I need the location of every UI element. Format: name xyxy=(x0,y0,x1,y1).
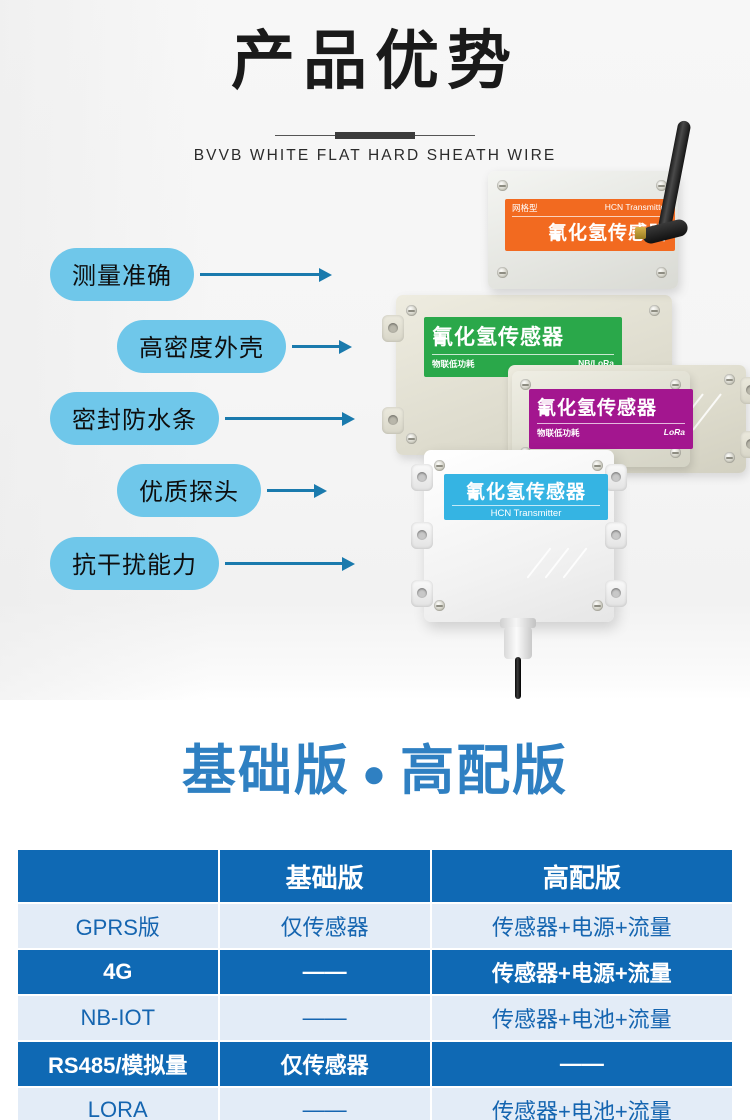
feature-item-1[interactable]: 测量准确 xyxy=(50,248,332,301)
feature-item-3[interactable]: 密封防水条 xyxy=(50,392,355,445)
feature-item-4[interactable]: 优质探头 xyxy=(117,464,327,517)
screw xyxy=(406,433,417,444)
table-cell-basic: —— xyxy=(220,1088,430,1120)
feature-label: 抗干扰能力 xyxy=(50,537,219,590)
screw xyxy=(592,460,603,471)
hatch-lines xyxy=(532,538,604,598)
feature-label: 优质探头 xyxy=(117,464,261,517)
label-rule xyxy=(537,423,685,424)
device-label-right: LoRa xyxy=(664,427,685,439)
section-title: 基础版●高配版 xyxy=(0,726,750,805)
device-label-title: 氰化氢传感器 xyxy=(537,393,685,420)
mount-tab xyxy=(605,522,627,549)
table-cell-feature: NB-IOT xyxy=(18,996,218,1040)
mount-tab xyxy=(605,464,627,491)
device-label-title: 氰化氢传感器 xyxy=(432,321,614,351)
mount-tab xyxy=(605,580,627,607)
screw xyxy=(497,180,508,191)
table-header-cell-0 xyxy=(18,850,218,902)
device-label-left: 网格型 xyxy=(512,202,538,214)
mount-tab xyxy=(411,464,433,491)
screw xyxy=(649,305,660,316)
table-cell-feature: LORA xyxy=(18,1088,218,1120)
table-cell-basic: 仅传感器 xyxy=(220,904,430,948)
mount-tab xyxy=(382,407,404,434)
arrow-right-icon xyxy=(200,269,332,281)
feature-item-5[interactable]: 抗干扰能力 xyxy=(50,537,355,590)
divider-center-nub xyxy=(335,132,415,139)
section-title-dot: ● xyxy=(350,752,400,796)
arrow-right-icon xyxy=(225,558,355,570)
device-label-left: 物联低功耗 xyxy=(432,358,475,370)
table-row: RS485/模拟量 仅传感器 —— xyxy=(18,1042,732,1086)
table-cell-premium: 传感器+电源+流量 xyxy=(432,950,732,994)
table-cell-basic: —— xyxy=(220,996,430,1040)
screw xyxy=(656,267,667,278)
table-row: 4G —— 传感器+电源+流量 xyxy=(18,950,732,994)
comparison-table: 基础版 高配版 GPRS版 仅传感器 传感器+电源+流量 4G —— 传感器+电… xyxy=(16,848,734,1120)
table-cell-basic: —— xyxy=(220,950,430,994)
feature-item-2[interactable]: 高密度外壳 xyxy=(117,320,352,373)
title-divider xyxy=(275,131,475,140)
section-title-right: 高配版 xyxy=(400,741,568,801)
mount-tab xyxy=(740,431,750,458)
screw xyxy=(434,460,445,471)
screw xyxy=(724,374,735,385)
table-header-cell-1: 基础版 xyxy=(220,850,430,902)
device-label-right: HCN Transmitter xyxy=(605,202,668,212)
antenna-connector xyxy=(635,227,646,239)
table-header-row: 基础版 高配版 xyxy=(18,850,732,902)
page-title: 产品优势 xyxy=(0,28,750,95)
screw xyxy=(592,600,603,611)
table-row: GPRS版 仅传感器 传感器+电源+流量 xyxy=(18,904,732,948)
device-label-title: 氰化氢传感器 xyxy=(452,477,600,504)
label-rule xyxy=(432,354,614,355)
table-cell-feature: RS485/模拟量 xyxy=(18,1042,218,1086)
product-advantage-page: 产品优势 BVVB WHITE FLAT HARD SHEATH WIRE xyxy=(0,0,750,1120)
table-cell-premium: —— xyxy=(432,1042,732,1086)
device-label-left: 物联低功耗 xyxy=(537,427,580,439)
device-label-right: HCN Transmitter xyxy=(452,508,600,519)
feature-label: 测量准确 xyxy=(50,248,194,301)
arrow-right-icon xyxy=(267,485,327,497)
page-subtitle: BVVB WHITE FLAT HARD SHEATH WIRE xyxy=(0,147,750,165)
screw xyxy=(724,452,735,463)
mount-tab xyxy=(382,315,404,342)
table-cell-feature: 4G xyxy=(18,950,218,994)
table-header-cell-2: 高配版 xyxy=(432,850,732,902)
mount-tab xyxy=(411,522,433,549)
arrow-right-icon xyxy=(225,413,355,425)
mount-tab xyxy=(740,377,750,404)
section-title-left: 基础版 xyxy=(182,741,350,801)
sensor-cable xyxy=(515,657,521,699)
table-row: NB-IOT —— 传感器+电池+流量 xyxy=(18,996,732,1040)
cable-gland xyxy=(504,627,532,659)
table-cell-premium: 传感器+电池+流量 xyxy=(432,996,732,1040)
arrow-right-icon xyxy=(292,341,352,353)
screw xyxy=(497,267,508,278)
table-row: LORA —— 传感器+电池+流量 xyxy=(18,1088,732,1120)
table-cell-basic: 仅传感器 xyxy=(220,1042,430,1086)
screw xyxy=(406,305,417,316)
label-rule xyxy=(512,216,668,217)
device-illustration-group: 氰化氢传感器 物联低功耗 NB/LoRa xyxy=(390,175,750,695)
screw xyxy=(434,600,445,611)
feature-label: 高密度外壳 xyxy=(117,320,286,373)
table-cell-premium: 传感器+电源+流量 xyxy=(432,904,732,948)
mount-tab xyxy=(411,580,433,607)
table-cell-premium: 传感器+电池+流量 xyxy=(432,1088,732,1120)
table-cell-feature: GPRS版 xyxy=(18,904,218,948)
feature-label: 密封防水条 xyxy=(50,392,219,445)
hero-product-section: 产品优势 BVVB WHITE FLAT HARD SHEATH WIRE xyxy=(0,0,750,700)
device-body-white: 氰化氢传感器 HCN Transmitter xyxy=(424,450,614,622)
device-label-cyan: 氰化氢传感器 HCN Transmitter xyxy=(444,474,608,520)
device-label-purple: 氰化氢传感器 物联低功耗 LoRa xyxy=(529,389,693,449)
label-rule xyxy=(452,505,600,506)
